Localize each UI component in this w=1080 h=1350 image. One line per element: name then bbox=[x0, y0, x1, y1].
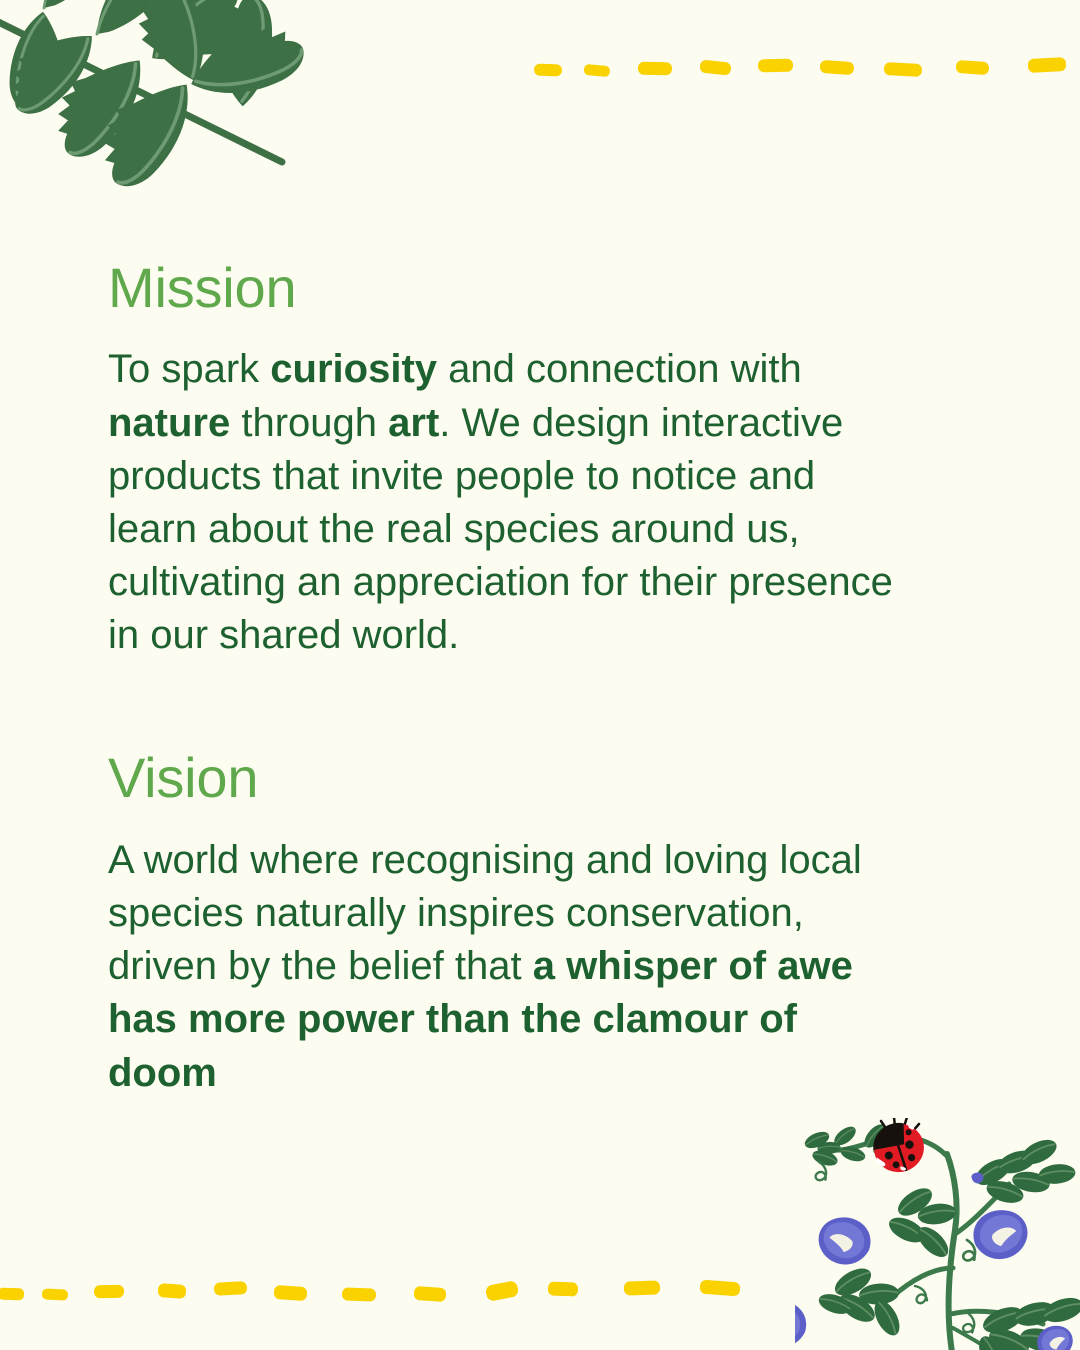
pea-flower-icon bbox=[1035, 1323, 1076, 1350]
mission-emphasis-nature: nature bbox=[108, 401, 230, 445]
content-column: Mission To spark curiosity and connectio… bbox=[108, 258, 908, 1100]
mission-heading: Mission bbox=[108, 258, 908, 317]
ladybug-icon bbox=[867, 1118, 930, 1179]
vision-body: A world where recognising and loving loc… bbox=[108, 834, 898, 1100]
vision-block: Vision A world where recognising and lov… bbox=[108, 748, 908, 1099]
butterfly-pea-vine-icon bbox=[795, 1118, 1080, 1350]
dashed-line-icon-bottom bbox=[0, 1276, 796, 1336]
mission-emphasis-art: art bbox=[388, 401, 439, 445]
pea-flower-icon bbox=[972, 1208, 1029, 1261]
flower-bud-icon bbox=[970, 1171, 985, 1185]
vision-heading: Vision bbox=[108, 748, 908, 807]
mission-body: To spark curiosity and connection with n… bbox=[108, 343, 898, 662]
mission-body-text-1: To spark bbox=[108, 347, 270, 391]
pea-flower-icon bbox=[795, 1300, 807, 1348]
neem-compound-leaf-icon bbox=[0, 0, 342, 246]
poster-canvas: Mission To spark curiosity and connectio… bbox=[0, 0, 1080, 1350]
mission-emphasis-curiosity: curiosity bbox=[270, 347, 437, 391]
mission-block: Mission To spark curiosity and connectio… bbox=[108, 258, 908, 662]
pea-flower-icon bbox=[817, 1216, 872, 1267]
mission-body-text-3: through bbox=[230, 401, 388, 445]
mission-body-text-2: and connection with bbox=[437, 347, 802, 391]
dashed-line-icon-top bbox=[528, 44, 1080, 104]
flower-bud-icon bbox=[887, 1153, 902, 1168]
